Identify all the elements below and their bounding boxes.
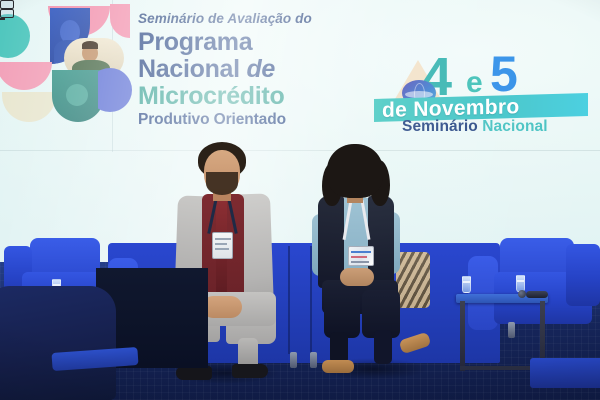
backdrop-title-block: Seminário de Avaliação do Programa Nacio… [138, 11, 370, 129]
man-beard [206, 172, 238, 195]
man-shoe-right [232, 364, 268, 378]
date-day-second: 5 [490, 49, 518, 99]
woman-hands [340, 268, 374, 286]
armchair-right-leg [508, 322, 515, 338]
woman-handbag [396, 252, 430, 308]
decorative-circle-mosaic [0, 0, 128, 148]
sofa-cushion-seam-1 [288, 246, 290, 354]
title-line-programa: Programa [138, 29, 370, 55]
woman-sandal-left [322, 360, 354, 373]
microphone-right-head [518, 290, 526, 298]
date-conjunction: e [466, 68, 483, 98]
woman-shin-right [374, 330, 392, 364]
sofa-leg-center-2 [310, 352, 317, 368]
backdrop-panel-seam [0, 150, 600, 151]
mosaic-tile-periwinkle [98, 68, 132, 120]
panelist-right [0, 0, 14, 20]
man-clasped-hands [202, 296, 242, 318]
man-shoe-left [176, 366, 212, 380]
title-word-nacional: Nacional [138, 55, 246, 83]
sofa-leg-center-1 [290, 352, 297, 368]
subtitle-word-nacional: Nacional [482, 118, 547, 135]
date-logo-subtitle: Seminário Nacional [402, 118, 548, 136]
woman-held-card [348, 246, 374, 266]
armchair-right-arm-outer [566, 244, 600, 306]
mosaic-tile-pink-bottom [0, 62, 52, 90]
title-line-nacional-de: Nacional de [138, 56, 370, 82]
woman-eyeglasses-left-lens [0, 0, 14, 9]
microphone-right [526, 291, 548, 298]
date-logo: 4 e 5 de Novembro Seminário Nacional [374, 46, 592, 142]
side-table-right-leg-1 [460, 301, 465, 371]
mosaic-tile-mint [0, 14, 30, 58]
woman-eyeglasses-bridge [0, 18, 5, 20]
mosaic-tile-cream [2, 92, 56, 122]
water-glass-right-1 [462, 276, 471, 293]
mosaic-photo-teal [52, 70, 104, 122]
title-line-produtivo-orientado: Produtivo Orientado [138, 111, 370, 129]
subtitle-word-seminario: Seminário [402, 118, 482, 135]
photo-scene: Seminário de Avaliação do Programa Nacio… [0, 0, 600, 400]
man-name-badge [212, 232, 233, 259]
title-word-de: de [246, 55, 275, 83]
foreground-dark-chair [0, 286, 116, 400]
woman-hair-top [327, 144, 383, 198]
title-line-seminario: Seminário de Avaliação do [138, 11, 370, 28]
mosaic-tile-pink-edge [110, 4, 130, 38]
woman-eyeglasses-right-lens [0, 9, 14, 18]
foreground-blue-step [530, 358, 600, 388]
title-line-microcredito: Microcrédito [138, 83, 370, 109]
